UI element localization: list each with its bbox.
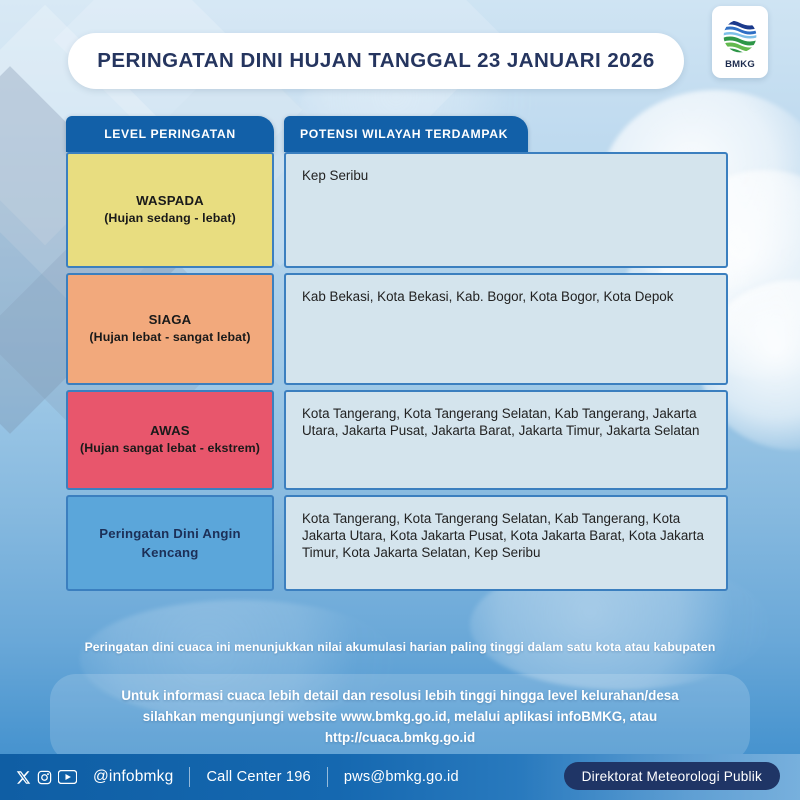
area-cell-awas: Kota Tangerang, Kota Tangerang Selatan, … bbox=[284, 390, 728, 490]
level-name: Peringatan Dini Angin Kencang bbox=[80, 524, 260, 562]
bmkg-logo: BMKG bbox=[712, 6, 768, 78]
level-cell-angin-kencang: Peringatan Dini Angin Kencang bbox=[66, 495, 274, 591]
department-badge: Direktorat Meteorologi Publik bbox=[564, 762, 780, 790]
level-cell-awas: AWAS (Hujan sangat lebat - ekstrem) bbox=[66, 390, 274, 490]
page-title-text: PERINGATAN DINI HUJAN TANGGAL 23 JANUARI… bbox=[97, 49, 655, 73]
column-header-level: LEVEL PERINGATAN bbox=[66, 116, 274, 152]
level-name: AWAS bbox=[150, 422, 190, 440]
youtube-icon[interactable] bbox=[58, 770, 77, 784]
bmkg-logo-text: BMKG bbox=[725, 60, 755, 70]
bmkg-circle-logo bbox=[718, 15, 762, 59]
footer-divider bbox=[327, 767, 328, 787]
level-cell-siaga: SIAGA (Hujan lebat - sangat lebat) bbox=[66, 273, 274, 385]
footer-bar: @infobmkg Call Center 196 pws@bmkg.go.id… bbox=[0, 754, 800, 800]
warning-table: LEVEL PERINGATAN POTENSI WILAYAH TERDAMP… bbox=[66, 116, 728, 596]
disclaimer-text: Peringatan dini cuaca ini menunjukkan ni… bbox=[0, 640, 800, 654]
poster-canvas: PERINGATAN DINI HUJAN TANGGAL 23 JANUARI… bbox=[0, 0, 800, 800]
level-cell-waspada: WASPADA (Hujan sedang - lebat) bbox=[66, 152, 274, 268]
info-panel: Untuk informasi cuaca lebih detail dan r… bbox=[50, 674, 750, 762]
table-header-row: LEVEL PERINGATAN POTENSI WILAYAH TERDAMP… bbox=[66, 116, 728, 152]
info-line-1: Untuk informasi cuaca lebih detail dan r… bbox=[74, 686, 726, 707]
area-cell-siaga: Kab Bekasi, Kota Bekasi, Kab. Bogor, Kot… bbox=[284, 273, 728, 385]
area-cell-waspada: Kep Seribu bbox=[284, 152, 728, 268]
page-title: PERINGATAN DINI HUJAN TANGGAL 23 JANUARI… bbox=[68, 33, 684, 89]
level-description: (Hujan sangat lebat - ekstrem) bbox=[80, 440, 260, 457]
level-description: (Hujan lebat - sangat lebat) bbox=[89, 329, 250, 346]
footer-divider bbox=[189, 767, 190, 787]
table-row: Peringatan Dini Angin Kencang Kota Tange… bbox=[66, 495, 728, 591]
info-line-3: http://cuaca.bmkg.go.id bbox=[74, 728, 726, 749]
level-name: WASPADA bbox=[136, 192, 204, 210]
instagram-icon[interactable] bbox=[37, 770, 52, 785]
social-icons: @infobmkg bbox=[16, 768, 173, 786]
level-description: (Hujan sedang - lebat) bbox=[104, 210, 236, 227]
info-line-2: silahkan mengunjungi website www.bmkg.go… bbox=[74, 707, 726, 728]
area-cell-angin-kencang: Kota Tangerang, Kota Tangerang Selatan, … bbox=[284, 495, 728, 591]
table-row: WASPADA (Hujan sedang - lebat) Kep Serib… bbox=[66, 152, 728, 268]
call-center-text: Call Center 196 bbox=[206, 769, 310, 785]
table-row: AWAS (Hujan sangat lebat - ekstrem) Kota… bbox=[66, 390, 728, 490]
level-name: SIAGA bbox=[149, 311, 192, 329]
email-text[interactable]: pws@bmkg.go.id bbox=[344, 769, 459, 785]
column-header-area: POTENSI WILAYAH TERDAMPAK bbox=[284, 116, 528, 152]
x-icon[interactable] bbox=[16, 770, 31, 785]
social-handle[interactable]: @infobmkg bbox=[93, 768, 173, 786]
table-row: SIAGA (Hujan lebat - sangat lebat) Kab B… bbox=[66, 273, 728, 385]
